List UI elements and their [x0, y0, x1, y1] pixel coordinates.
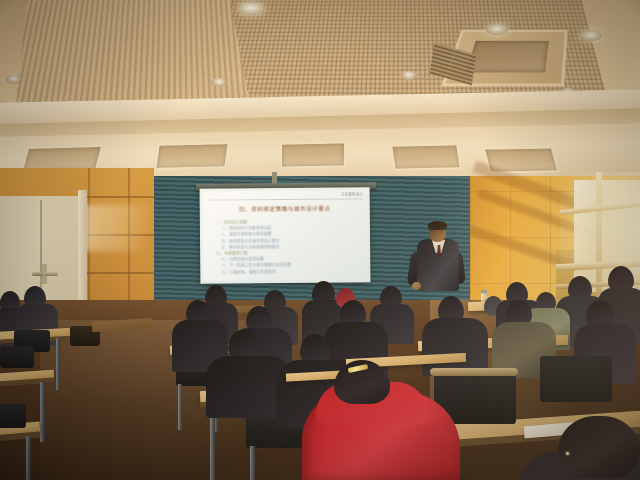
ceiling-speaker-icon [211, 78, 227, 87]
recessed-ceiling-panel [280, 141, 346, 168]
conference-room-photo: 江苏建筑设计 四、资料修定策略与城市设计要点 一、总体设计思路 二、规划结构与功… [0, 0, 640, 480]
desk-leg [56, 338, 60, 390]
desk-leg [26, 436, 31, 480]
ceiling-speaker-icon [401, 71, 417, 80]
recessed-ceiling-panel [390, 143, 462, 170]
downlight-icon [486, 24, 508, 35]
earring [566, 452, 569, 455]
chair-empty [0, 404, 26, 428]
door-handle-icon[interactable] [44, 272, 58, 276]
projected-slide: 江苏建筑设计 四、资料修定策略与城市设计要点 一、总体设计思路 二、规划结构与功… [203, 190, 368, 280]
head [558, 416, 640, 478]
chair-back-rim [430, 368, 518, 376]
slide-glare [203, 190, 368, 280]
projection-screen: 江苏建筑设计 四、资料修定策略与城市设计要点 一、总体设计思路 二、规划结构与功… [200, 187, 371, 283]
door-handle-icon[interactable] [32, 272, 43, 276]
downlight-icon [580, 30, 602, 41]
chair-empty [0, 346, 34, 368]
downlight-icon [237, 2, 265, 15]
presenter-hair [428, 221, 447, 230]
chair-leg [250, 446, 255, 480]
ceiling-speaker-icon [6, 75, 22, 84]
presenter-hand [412, 282, 421, 290]
chair-leg [178, 384, 182, 430]
recessed-ceiling-panel [154, 142, 229, 170]
desk-leg [40, 382, 45, 442]
chair [540, 356, 612, 402]
